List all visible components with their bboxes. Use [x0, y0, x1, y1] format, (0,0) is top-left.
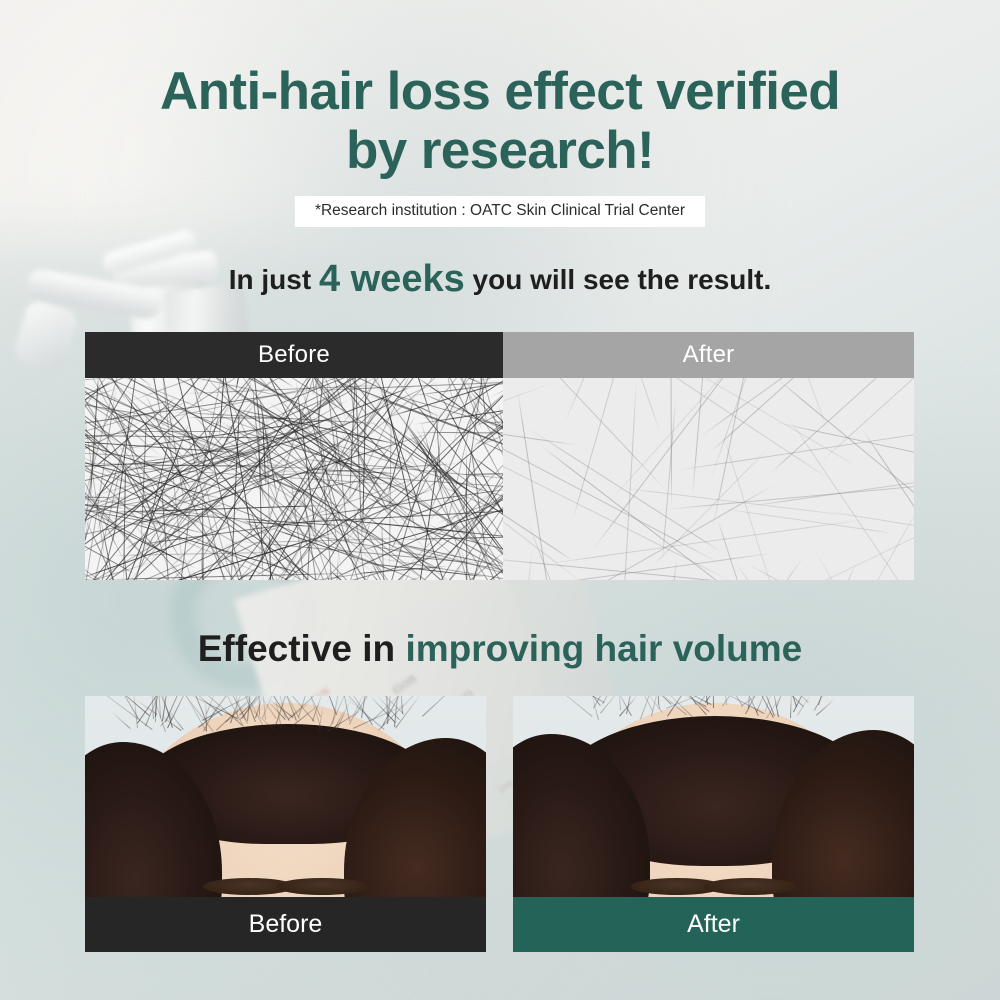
headline-line-2: by research! [0, 121, 1000, 180]
photo-after-card: After [513, 696, 914, 952]
shed-after-image [503, 378, 914, 580]
headline-line-1: Anti-hair loss effect verified [160, 62, 840, 121]
volume-heading-prefix: Effective in [198, 628, 395, 669]
content-layer: Anti-hair loss effect verified by resear… [0, 0, 1000, 1000]
subline-prefix: In just [229, 264, 311, 295]
photo-after-label: After [513, 897, 914, 952]
shed-after-column: After [503, 332, 914, 580]
volume-heading: Effective in improving hair volume [0, 628, 1000, 670]
page-title: Anti-hair loss effect verified by resear… [0, 62, 1000, 181]
shed-hair-comparison: Before After [85, 332, 914, 580]
subline-highlight: 4 weeks [319, 258, 465, 300]
photo-before-label: Before [85, 897, 486, 952]
volume-heading-highlight: improving hair volume [405, 628, 802, 669]
shed-after-label: After [503, 332, 914, 378]
photo-after-image [513, 696, 914, 897]
photo-before-card: Before [85, 696, 486, 952]
scalp-photo-comparison: Before After [85, 696, 914, 952]
timeframe-subheading: In just 4 weeks you will see the result. [0, 258, 1000, 301]
shed-before-label: Before [85, 332, 503, 378]
shed-before-column: Before [85, 332, 503, 580]
shed-before-image [85, 378, 503, 580]
research-institution-badge: *Research institution : OATC Skin Clinic… [295, 196, 705, 227]
photo-before-image [85, 696, 486, 897]
subline-suffix: you will see the result. [473, 264, 772, 295]
